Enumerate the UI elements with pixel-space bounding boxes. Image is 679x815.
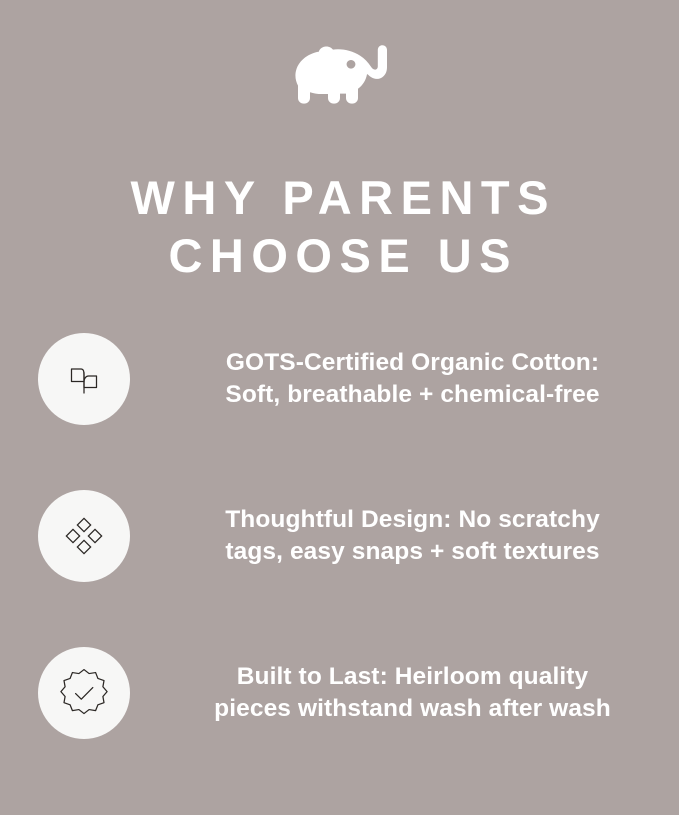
feature-text-line-2: tags, easy snaps + soft textures [172, 536, 653, 568]
four-diamonds-icon [61, 513, 107, 559]
sprout-icon [61, 356, 107, 402]
feature-text-line-2: pieces withstand wash after wash [172, 693, 653, 725]
feature-row-organic-cotton: GOTS-Certified Organic Cotton: Soft, bre… [0, 300, 679, 457]
headline-line-2: CHOOSE US [0, 227, 679, 285]
elephant-icon [288, 38, 392, 106]
verified-badge-check-icon [59, 668, 109, 718]
feature-text: Thoughtful Design: No scratchy tags, eas… [172, 504, 653, 568]
headline-line-1: WHY PARENTS [0, 169, 679, 227]
feature-icon-badge [38, 333, 130, 425]
feature-text: Built to Last: Heirloom quality pieces w… [172, 661, 653, 725]
brand-logo [0, 38, 679, 106]
feature-text-line-1: GOTS-Certified Organic Cotton: [172, 347, 653, 379]
feature-icon-badge [38, 490, 130, 582]
page-title: WHY PARENTS CHOOSE US [0, 169, 679, 285]
feature-text-line-2: Soft, breathable + chemical-free [172, 379, 653, 411]
feature-row-thoughtful-design: Thoughtful Design: No scratchy tags, eas… [0, 457, 679, 614]
why-parents-choose-us-poster: WHY PARENTS CHOOSE US GOTS-Certified Org… [0, 0, 679, 815]
feature-row-built-to-last: Built to Last: Heirloom quality pieces w… [0, 614, 679, 771]
feature-list: GOTS-Certified Organic Cotton: Soft, bre… [0, 300, 679, 771]
feature-text-line-1: Thoughtful Design: No scratchy [172, 504, 653, 536]
feature-text-line-1: Built to Last: Heirloom quality [172, 661, 653, 693]
feature-text: GOTS-Certified Organic Cotton: Soft, bre… [172, 347, 653, 411]
feature-icon-badge [38, 647, 130, 739]
